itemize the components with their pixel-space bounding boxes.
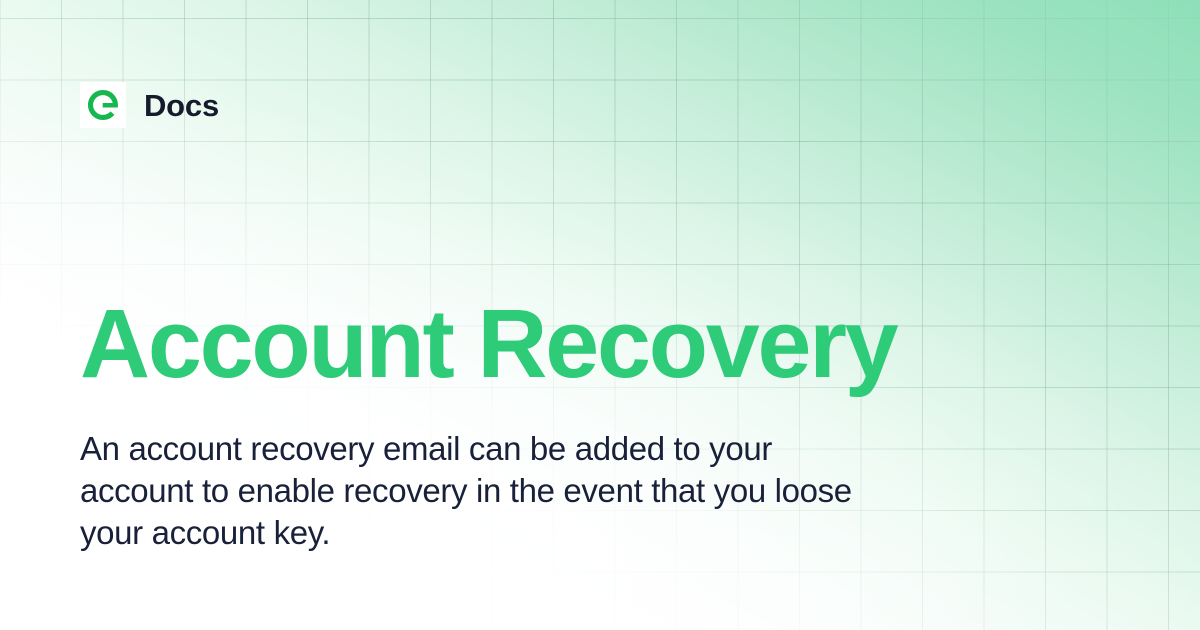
page-description: An account recovery email can be added t… — [80, 428, 880, 554]
card-content: Docs Account Recovery An account recover… — [0, 0, 1200, 630]
page-title: Account Recovery — [80, 295, 897, 392]
brand-lockup[interactable]: Docs — [80, 82, 219, 128]
og-card-canvas: Docs Account Recovery An account recover… — [0, 0, 1200, 630]
brand-name-label: Docs — [144, 90, 219, 121]
eten-e-logo-icon — [80, 82, 126, 128]
